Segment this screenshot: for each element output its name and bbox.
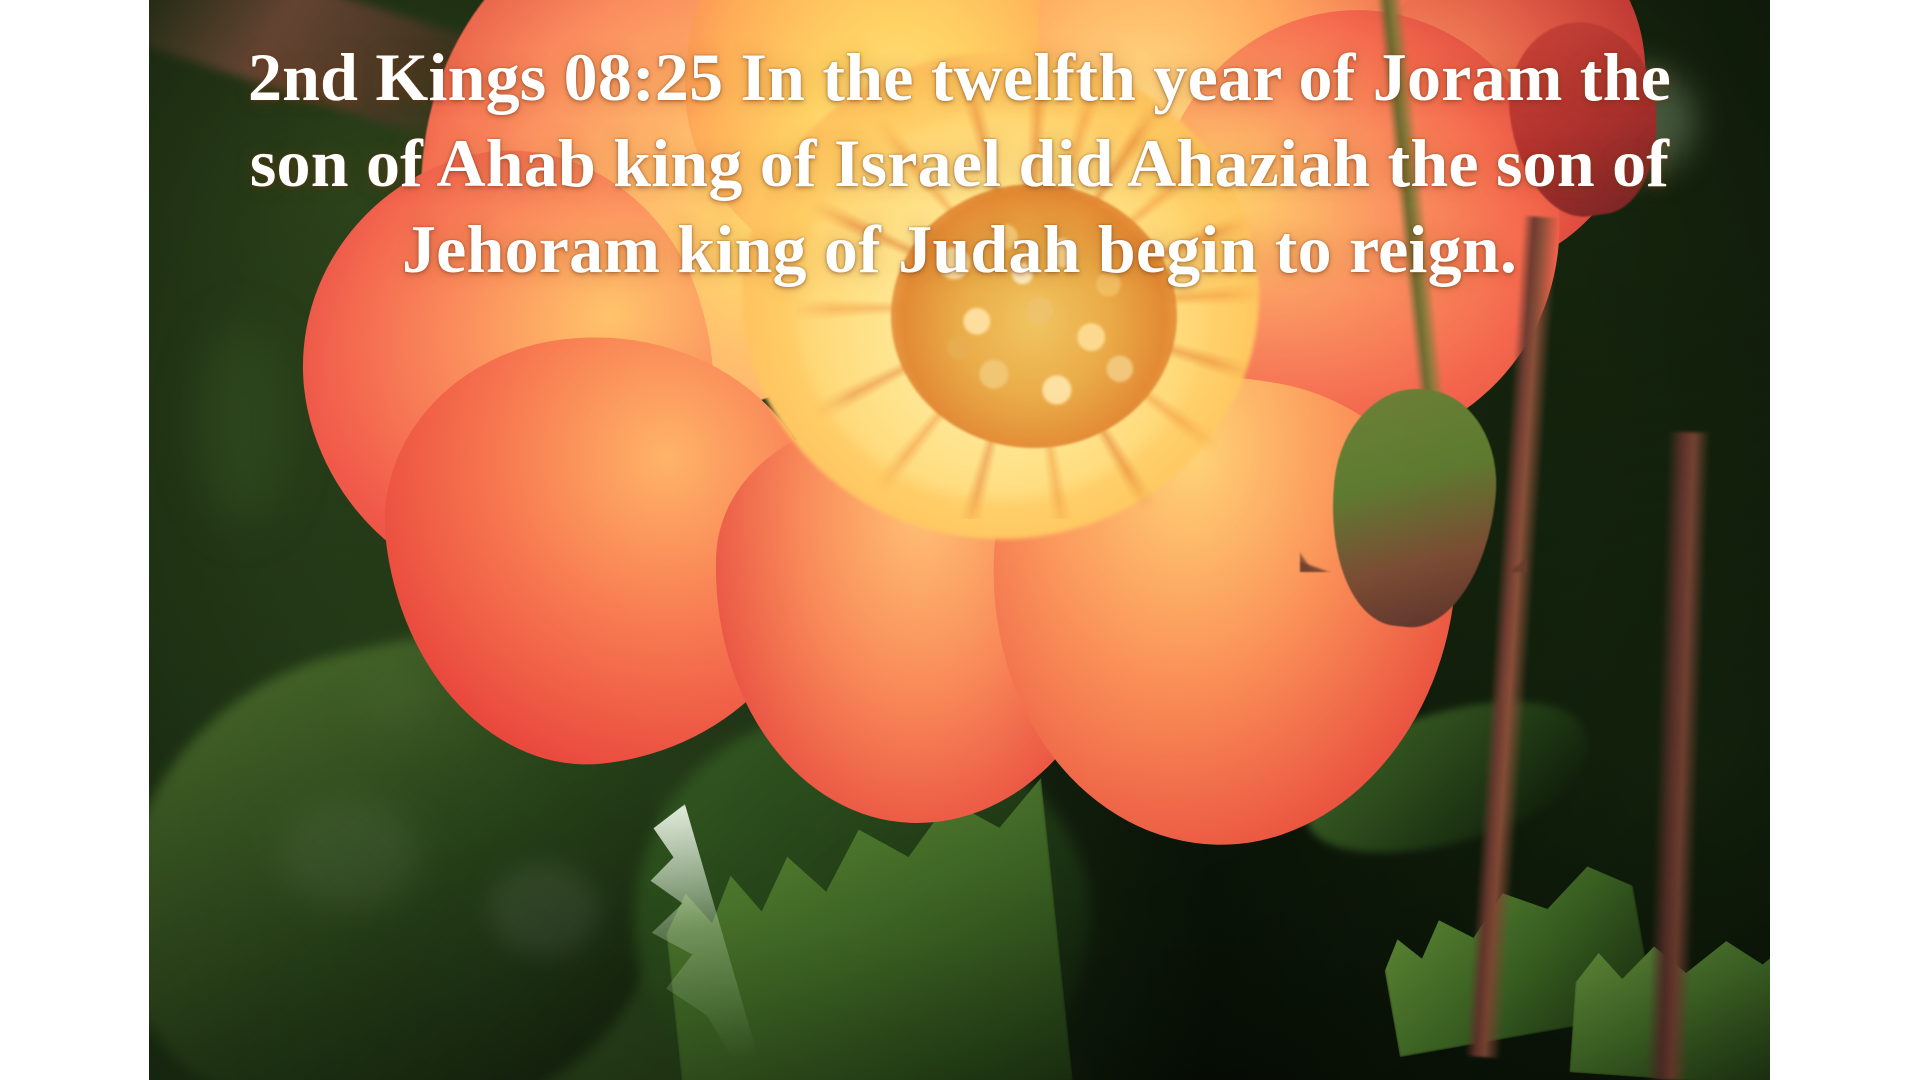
rose-photograph: 2nd Kings 08:25 In the twelfth year of J…: [149, 0, 1770, 1080]
rose-bud-sepals: [1300, 356, 1527, 572]
bokeh-highlight: [198, 324, 288, 524]
bible-verse-text: 2nd Kings 08:25 In the twelfth year of J…: [149, 0, 1770, 292]
verse-image-card: 2nd Kings 08:25 In the twelfth year of J…: [0, 0, 1920, 1080]
